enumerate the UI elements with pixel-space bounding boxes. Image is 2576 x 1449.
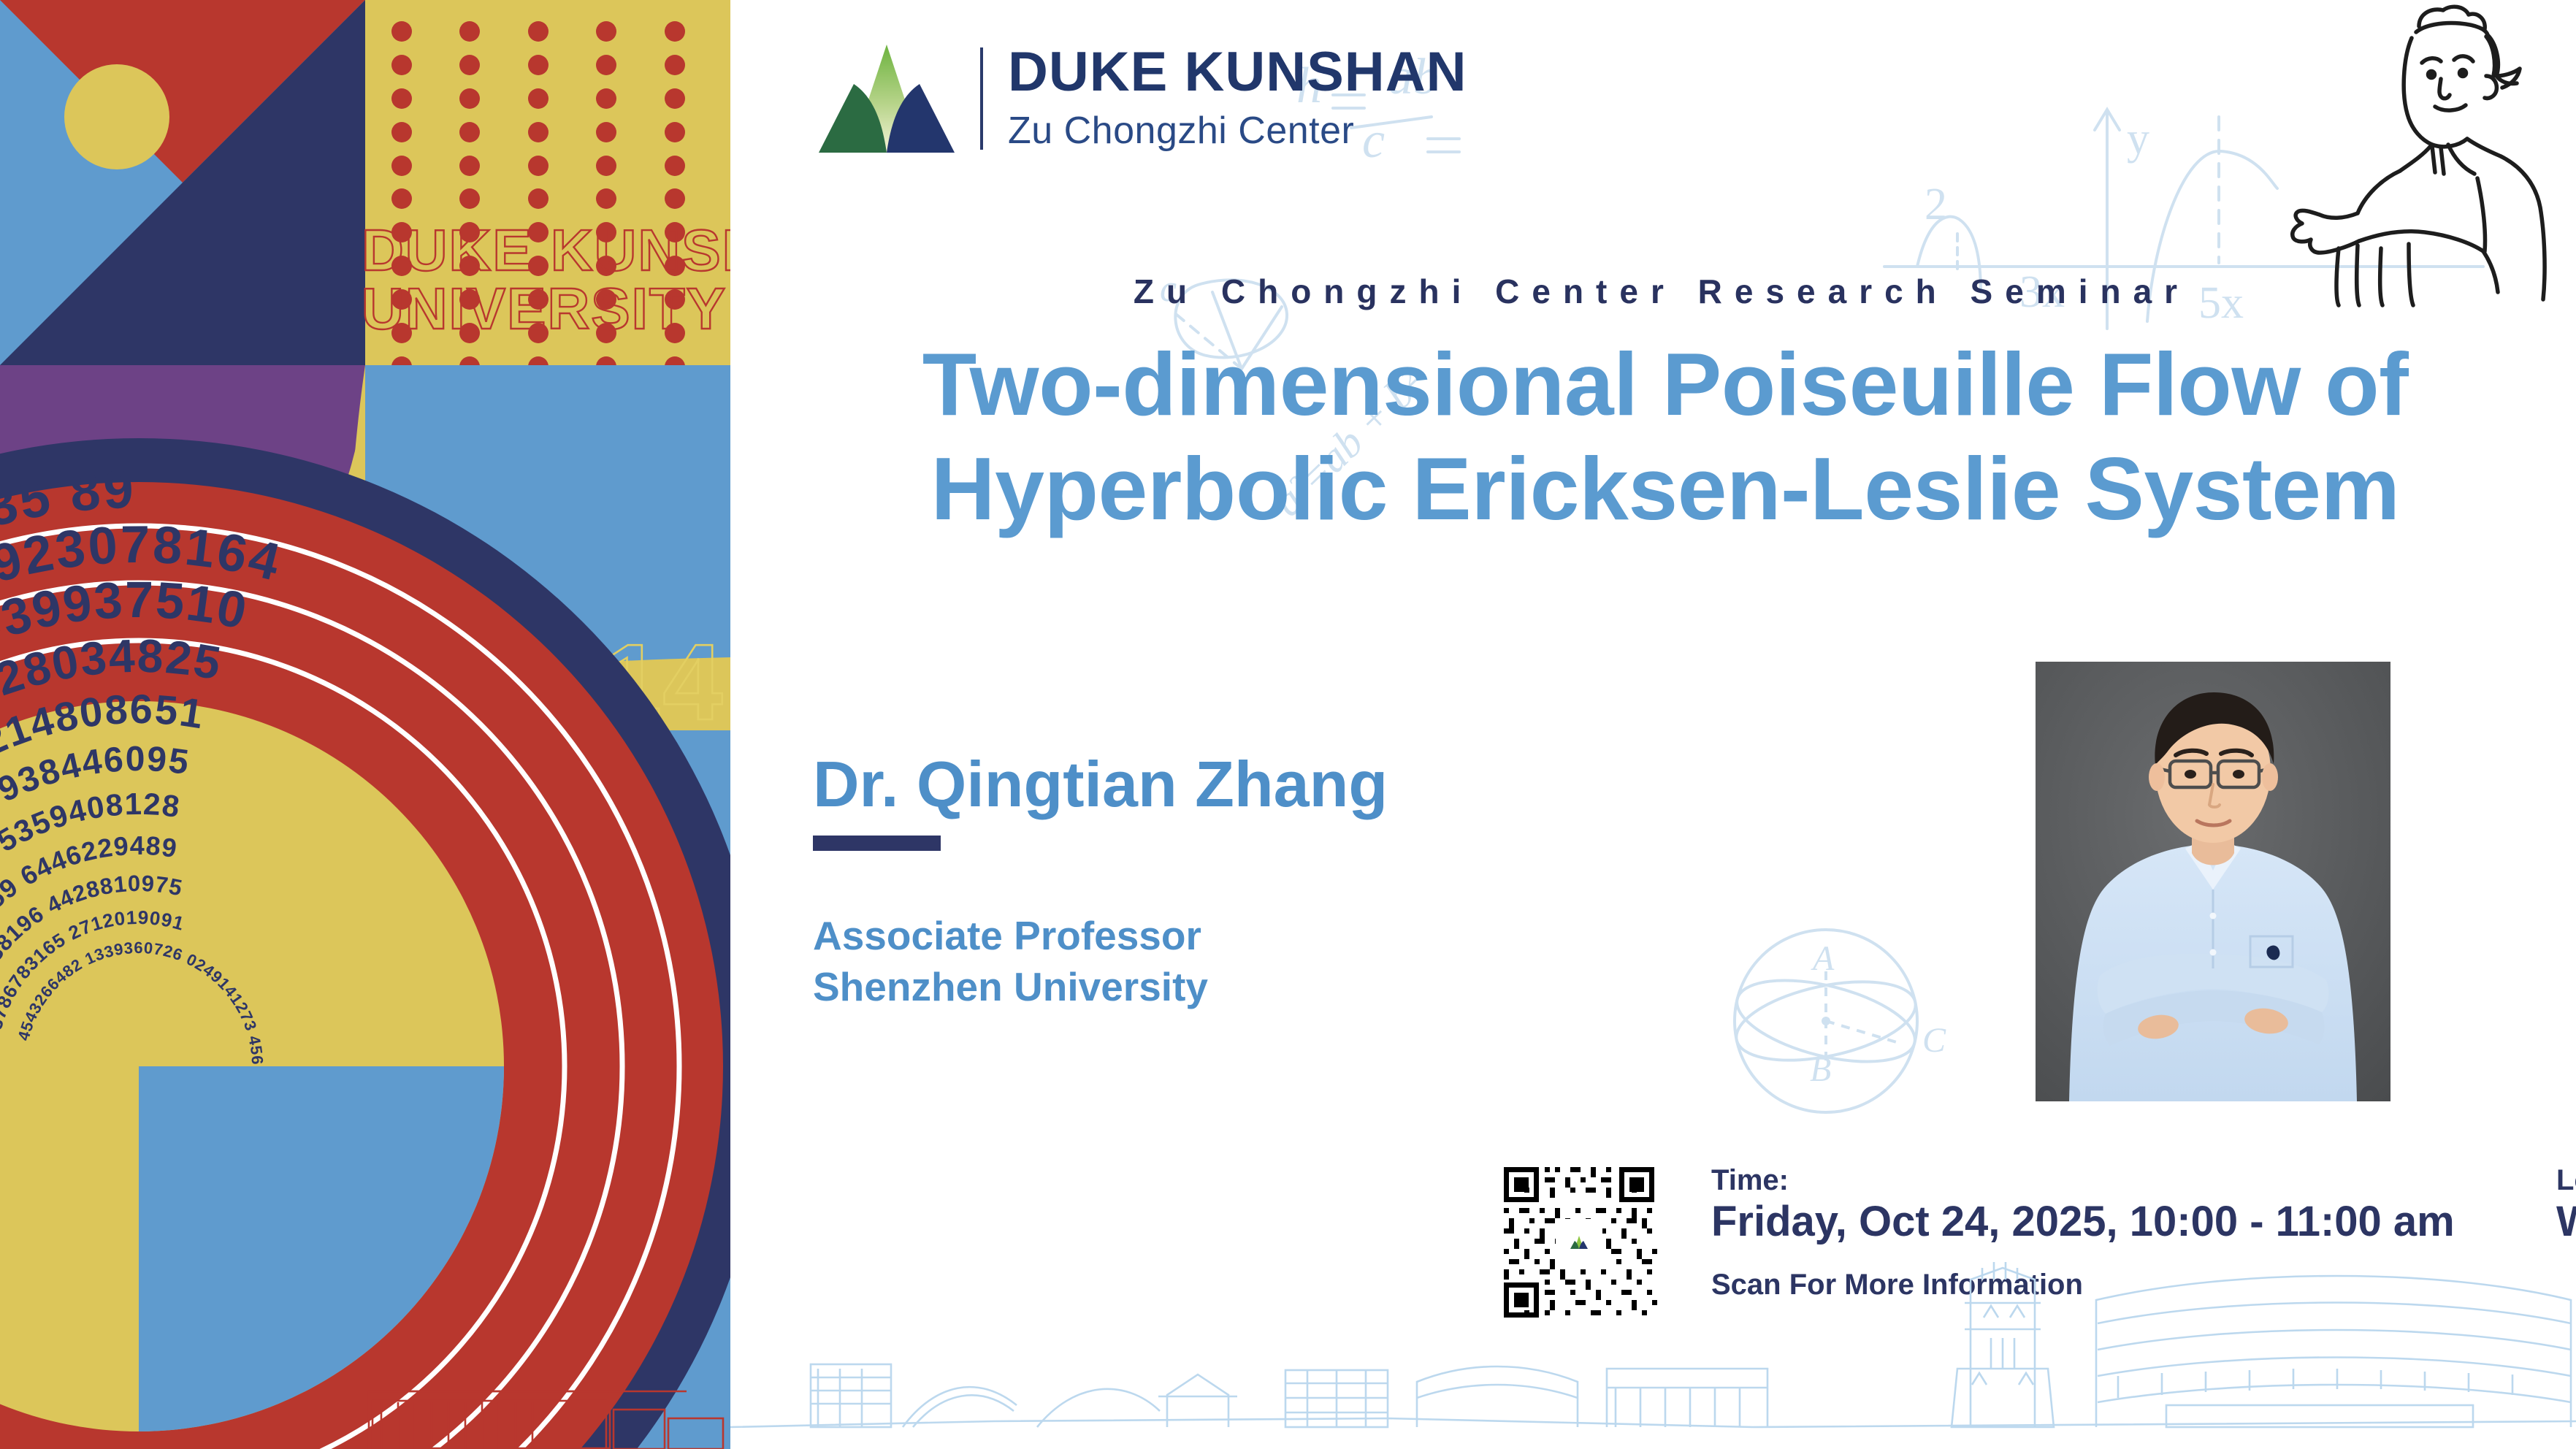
decorative-left-panel: DUKE KUNSHAN UNIVERSITY y y=sinα π≈3.14: [0, 0, 730, 1449]
logo-divider: [980, 47, 983, 150]
location-label: Location:: [2556, 1163, 2576, 1198]
seminar-series-label: Zu Chongzhi Center Research Seminar: [822, 272, 2502, 311]
logo-title: DUKE KUNSHAN: [1008, 45, 1467, 100]
decor-outline-text-line2: UNIVERSITY: [362, 276, 727, 341]
speaker-role: Associate Professor: [813, 911, 1388, 962]
qr-center-logo-icon: [1556, 1219, 1602, 1266]
speaker-portrait: [2036, 662, 2390, 1101]
decor-outline-text-line1: DUKE KUNSHAN: [362, 218, 730, 283]
title-line-2: Hyperbolic Ericksen-Leslie System: [803, 437, 2527, 541]
logo-subtitle: Zu Chongzhi Center: [1008, 110, 1467, 152]
dku-logo: DUKE KUNSHAN Zu Chongzhi Center: [813, 40, 1467, 157]
scan-note: Scan For More Information: [1711, 1269, 2455, 1301]
time-label: Time:: [1711, 1163, 2455, 1198]
sketch-sphere-label-a: A: [1811, 939, 1835, 978]
time-value: Friday, Oct 24, 2025, 10:00 - 11:00 am: [1711, 1198, 2455, 1247]
sketch-sphere-label-c: C: [1922, 1021, 1946, 1060]
speaker-underline: [813, 836, 941, 851]
dku-mountain-logo-icon: [813, 40, 963, 157]
speaker-organization: Shenzhen University: [813, 962, 1388, 1013]
speaker-block: Dr. Qingtian Zhang Associate Professor S…: [813, 752, 1388, 1013]
zu-chongzhi-illustration: [2293, 7, 2545, 305]
page-title: Two-dimensional Poiseuille Flow of Hyper…: [803, 332, 2527, 540]
sketch-label-2: 2: [1925, 180, 1947, 229]
location-column: Location: WDR 1005: [2556, 1163, 2576, 1247]
speaker-name: Dr. Qingtian Zhang: [813, 752, 1388, 817]
logistics-columns: Location: WDR 1005 Zoom ID: 99561147443 …: [2556, 1163, 2576, 1247]
poster-content: y 3x 5x 2 h ab c c a²=ab + b²: [730, 0, 2576, 1449]
location-value: WDR 1005: [2556, 1198, 2576, 1247]
title-line-1: Two-dimensional Poiseuille Flow of: [803, 332, 2527, 437]
qr-code[interactable]: [1498, 1161, 1660, 1323]
time-block: Time: Friday, Oct 24, 2025, 10:00 - 11:0…: [1711, 1163, 2455, 1301]
decor-circle-yellow: [64, 64, 169, 169]
sketch-label-y: y: [2127, 114, 2149, 164]
sketch-sphere-label-b: B: [1810, 1050, 1831, 1089]
